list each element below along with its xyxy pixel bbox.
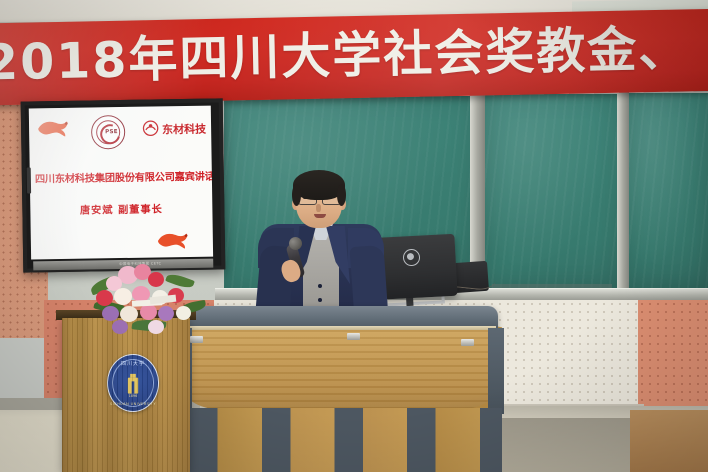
pse-seal-logo: PSE bbox=[91, 115, 126, 150]
photo-scene: 2018年四川大学社会奖教金、 PSE 东材科技 四川东材科技集团股份有限公司嘉 bbox=[0, 0, 708, 472]
company-logo: 东材科技 bbox=[141, 118, 203, 141]
university-emblem: 四川大学 1896 SICHUAN UNIVERSITY bbox=[107, 354, 159, 412]
slide-subtitle: 唐安斌 副董事长 bbox=[35, 200, 207, 218]
desk-latch-left[interactable] bbox=[190, 336, 203, 343]
chalkboard-divider-post-2 bbox=[617, 90, 629, 304]
company-mark-icon bbox=[141, 119, 160, 138]
slide-title: 四川东材科技集团股份有限公司嘉宾讲话 bbox=[35, 168, 207, 186]
desk-latch-right[interactable] bbox=[461, 339, 474, 346]
banner-title: 2018年四川大学社会奖教金、 bbox=[0, 12, 708, 99]
wall-panel-lower-d bbox=[638, 300, 708, 410]
console-desk-legs bbox=[186, 408, 502, 472]
dragon-ornament-icon-2 bbox=[155, 228, 197, 251]
screen-side-button[interactable] bbox=[27, 167, 31, 193]
chalkboard-far-right bbox=[626, 93, 708, 289]
projection-screen: PSE 东材科技 四川东材科技集团股份有限公司嘉宾讲话 唐安斌 副董事长 中国电… bbox=[21, 98, 226, 272]
floor-section-wood bbox=[630, 410, 708, 472]
emblem-tower-icon bbox=[126, 372, 141, 396]
dragon-ornament-icon bbox=[35, 116, 77, 139]
floor-section-grey bbox=[482, 418, 632, 472]
dell-logo-icon bbox=[403, 249, 421, 267]
slide-surface: PSE 东材科技 四川东材科技集团股份有限公司嘉宾讲话 唐安斌 副董事长 bbox=[29, 106, 213, 260]
speaker-figure bbox=[252, 168, 388, 318]
desk-latch-center[interactable] bbox=[347, 333, 360, 340]
company-name: 东材科技 bbox=[162, 121, 206, 138]
console-desk-front-panel bbox=[186, 330, 494, 410]
pse-seal-text: PSE bbox=[105, 129, 118, 135]
event-banner: 2018年四川大学社会奖教金、 bbox=[0, 9, 708, 106]
emblem-english-name: SICHUAN UNIVERSITY bbox=[108, 402, 158, 406]
emblem-chinese-name: 四川大学 bbox=[108, 360, 158, 367]
console-desk-side-right bbox=[488, 328, 504, 414]
wall-panel-lower-c bbox=[480, 300, 640, 410]
podium: 四川大学 1896 SICHUAN UNIVERSITY bbox=[62, 318, 190, 472]
emblem-year: 1896 bbox=[108, 394, 158, 398]
chalkboard-right bbox=[484, 94, 620, 290]
